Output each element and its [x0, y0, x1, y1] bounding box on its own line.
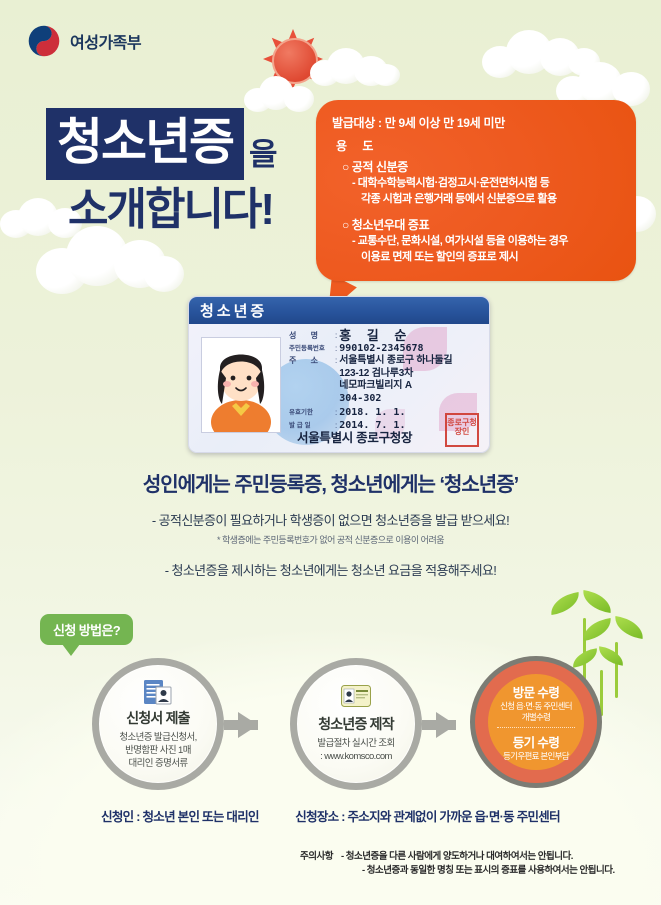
- cloud-icon: [482, 28, 602, 80]
- step-detail-line3: 대리인 증명서류: [128, 758, 187, 769]
- mail-receive-title: 등기 수령: [513, 732, 559, 751]
- callout-detail-line2: 각종 시험과 은행거래 등에서 신분증으로 활용: [361, 192, 620, 208]
- arrow-right-icon: [238, 712, 258, 738]
- card-field-row: : 123-12 검나루3차: [289, 368, 483, 380]
- callout-item-bullet: ○ 공적 신분증: [342, 158, 620, 175]
- visit-receive-title: 방문 수령: [513, 682, 559, 701]
- headline-particle: 을: [249, 129, 277, 180]
- card-field-label: 성 명: [289, 330, 335, 341]
- card-field-row: 주 소 : 서울특별시 종로구 하나둘길: [289, 355, 483, 367]
- key-message-heading: 성인에게는 주민등록증, 청소년에게는 ‘청소년증’: [0, 468, 661, 497]
- field-colon: :: [335, 355, 337, 366]
- poster-root: 여성가족부 청소년증 을 소개합니다! 발급대상 : 만 9세 이상 만 19세…: [0, 0, 661, 905]
- divider: [497, 727, 575, 728]
- step-detail: 청소년증 발급신청서, 반명함판 사진 1매 대리인 증명서류: [119, 731, 196, 770]
- youth-id-card: 청소년증 성 명 : 홍 길 순: [188, 296, 490, 453]
- field-colon: :: [335, 343, 337, 354]
- youth-card-icon: [341, 685, 371, 711]
- step-detail-line2: 반명함판 사진 1매: [125, 745, 191, 756]
- footer-label: 주의사항: [300, 850, 333, 864]
- headline-boxed-text: 청소년증: [46, 108, 244, 180]
- ministry-logo: 여성가족부: [27, 24, 141, 58]
- card-field-row: 성 명 : 홍 길 순: [289, 330, 483, 342]
- card-field-row: : 304-302: [289, 393, 483, 405]
- visit-receive-sub1: 신청 읍·면·동 주민센터: [500, 701, 572, 712]
- card-field-value: 홍 길 순: [339, 330, 412, 342]
- card-field-value: 990102-2345678: [339, 343, 423, 355]
- key-message-note: * 학생증에는 주민등록번호가 없어 공적 신분증으로 이용이 어려움: [0, 533, 661, 546]
- footer-line1: - 청소년증을 다른 사람에게 양도하거나 대여하여서는 안됩니다.: [341, 850, 573, 864]
- taegeuk-icon: [27, 24, 61, 58]
- card-field-label: 유효기한: [289, 407, 335, 418]
- bullet-marker: ○: [342, 218, 352, 232]
- card-field-value: 304-302: [339, 393, 381, 405]
- callout-detail-line1: - 교통수단, 문화시설, 여가시설 등을 이용하는 경우: [352, 235, 568, 247]
- application-document-icon: [143, 679, 173, 705]
- footer-line2: - 청소년증과 동일한 명칭 또는 표시의 증표를 사용하여서는 안됩니다.: [362, 864, 650, 878]
- sprout-icon: [588, 618, 644, 698]
- step-detail-line1: 발급절차 실시간 조회: [317, 738, 394, 749]
- cloud-icon: [310, 44, 402, 88]
- callout-item-detail: - 대학수학능력시험·검정고시·운전면허시험 등 각종 시험과 은행거래 등에서…: [352, 176, 620, 207]
- callout-item-title: 공적 신분증: [352, 160, 408, 174]
- field-colon: :: [335, 407, 337, 418]
- seal-text: 종로구청장인: [447, 418, 476, 436]
- callout-item-bullet: ○ 청소년우대 증표: [342, 216, 620, 233]
- caption-row: 신청인 : 청소년 본인 또는 대리인 신청장소 : 주소지와 관계없이 가까운…: [0, 806, 661, 826]
- step-title: 청소년증 제작: [318, 714, 394, 734]
- headline-line2: 소개합니다!: [68, 188, 346, 232]
- page-title: 청소년증 을 소개합니다!: [46, 108, 346, 232]
- mail-receive-sub1: 등기우편료 본인부담: [503, 751, 569, 762]
- callout-detail-line1: - 대학수학능력시험·검정고시·운전면허시험 등: [352, 177, 549, 189]
- callout-item-title: 청소년우대 증표: [352, 218, 429, 232]
- card-header: 청소년증: [189, 297, 489, 324]
- callout-item-detail: - 교통수단, 문화시설, 여가시설 등을 이용하는 경우 이용료 면제 또는 …: [352, 234, 620, 265]
- footer-notice: 주의사항 - 청소년증을 다른 사람에게 양도하거나 대여하여서는 안됩니다. …: [300, 850, 650, 878]
- step-detail-line1: 청소년증 발급신청서,: [119, 732, 196, 743]
- official-seal-icon: 종로구청장인: [445, 413, 479, 447]
- step-detail: 발급절차 실시간 조회 : www.komsco.com: [317, 737, 394, 763]
- card-field-value: 123-12 검나루3차: [339, 368, 413, 380]
- process-step-1: 신청서 제출 청소년증 발급신청서, 반명함판 사진 1매 대리인 증명서류: [92, 658, 224, 790]
- card-photo: [201, 337, 281, 433]
- sun-icon: [262, 28, 324, 90]
- card-field-row: 주민등록번호 : 990102-2345678: [289, 343, 483, 355]
- callout-detail-line2: 이용료 면제 또는 할인의 증표로 제시: [361, 250, 620, 266]
- field-colon: :: [335, 330, 337, 341]
- arrow-right-icon: [436, 712, 456, 738]
- card-field-label: 주민등록번호: [289, 343, 335, 354]
- card-field-value: 네모파크빌리지 A: [339, 380, 412, 392]
- callout-eligibility: 발급대상 : 만 9세 이상 만 19세 미만: [332, 114, 620, 131]
- process-step-3-receive: 방문 수령 신청 읍·면·동 주민센터 개별수령 등기 수령 등기우편료 본인부…: [470, 656, 602, 788]
- key-message-line2: - 청소년증을 제시하는 청소년에게는 청소년 요금을 적용해주세요!: [0, 560, 661, 579]
- eligibility-callout: 발급대상 : 만 9세 이상 만 19세 미만 용 도 ○ 공적 신분증 - 대…: [316, 100, 636, 281]
- card-field-label: 주 소: [289, 355, 335, 366]
- process-step-2: 청소년증 제작 발급절차 실시간 조회 : www.komsco.com: [290, 658, 422, 790]
- card-field-value: 2018. 1. 1.: [339, 407, 405, 419]
- bullet-marker: ○: [342, 160, 352, 174]
- step-detail-line2: : www.komsco.com: [320, 751, 392, 762]
- card-field-row: : 네모파크빌리지 A: [289, 380, 483, 392]
- card-issuer: 서울특별시 종로구청장: [297, 427, 412, 446]
- step-title: 신청서 제출: [126, 708, 190, 728]
- visit-receive-sub2: 개별수령: [522, 712, 550, 723]
- how-to-apply-bubble: 신청 방법은?: [40, 614, 133, 645]
- caption-place: 신청장소 : 주소지와 관계없이 가까운 읍·면·동 주민센터: [295, 806, 560, 825]
- ministry-name: 여성가족부: [70, 29, 141, 53]
- key-message-line1: - 공적신분증이 필요하거나 학생증이 없으면 청소년증을 발급 받으세요!: [0, 510, 661, 529]
- callout-usage-label: 용 도: [336, 137, 620, 154]
- key-message-block: 성인에게는 주민등록증, 청소년에게는 ‘청소년증’ - 공적신분증이 필요하거…: [0, 468, 661, 579]
- card-field-value: 서울특별시 종로구 하나둘길: [339, 355, 452, 367]
- card-header-label: 청소년증: [200, 300, 267, 321]
- caption-applicant: 신청인 : 청소년 본인 또는 대리인: [101, 806, 259, 825]
